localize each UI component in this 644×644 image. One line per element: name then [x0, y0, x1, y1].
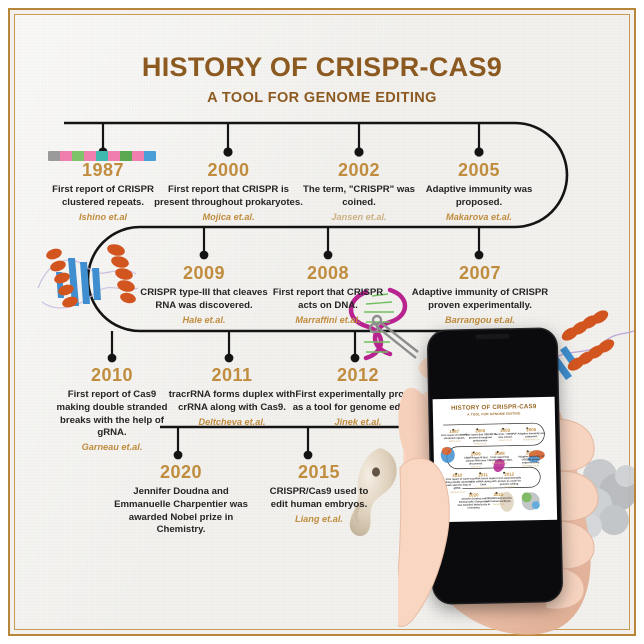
- event-year: 2000: [151, 160, 306, 181]
- event-citation: Marraffini et.al.: [264, 315, 392, 325]
- event-year: 2015: [264, 462, 374, 483]
- timeline-event-2002: 2002 The term, "CRISPR" was coined. Jans…: [303, 160, 415, 222]
- timeline-event-2020: 2020 Jennifer Doudna and Emmanuelle Char…: [106, 462, 256, 537]
- event-citation: Liang et.al.: [264, 514, 374, 524]
- event-citation: Garneau et.al.: [54, 442, 170, 452]
- event-description: CRISPR type-III that cleaves RNA was dis…: [134, 287, 274, 313]
- event-year: 2005: [423, 160, 535, 181]
- event-year: 2010: [54, 365, 170, 386]
- hand-holding-phone: HISTORY OF CRISPR-CAS9 A TOOL FOR GENOME…: [398, 300, 644, 644]
- event-description: tracrRNA forms duplex with crRNA along w…: [168, 389, 296, 415]
- timeline-event-2000: 2000 First report that CRISPR is present…: [151, 160, 306, 222]
- event-year: 2011: [168, 365, 296, 386]
- mini-event-cite: Jansen et.al.: [491, 439, 519, 443]
- event-citation: Jansen et.al.: [303, 212, 415, 222]
- event-citation: Hale et.al.: [134, 315, 274, 325]
- event-year: 2009: [134, 263, 274, 284]
- event-description: First report that CRISPR is present thro…: [151, 184, 306, 210]
- event-year: 2020: [106, 462, 256, 483]
- event-year: 2007: [409, 263, 551, 284]
- event-description: CRISPR/Cas9 used to edit human embryos.: [264, 486, 374, 512]
- event-description: First report of Cas9 making double stran…: [54, 389, 170, 440]
- mini-event-cite: Makarova et.al.: [516, 438, 546, 442]
- event-citation: Deltcheva et.al.: [168, 417, 296, 427]
- event-citation: Mojica et.al.: [151, 212, 306, 222]
- timeline-event-2005: 2005 Adaptive immunity was proposed. Mak…: [423, 160, 535, 222]
- event-description: The term, "CRISPR" was coined.: [303, 184, 415, 210]
- thumb-front: [398, 450, 518, 644]
- timeline-event-2008: 2008 First report that CRISPR acts on DN…: [264, 263, 392, 325]
- timeline-event-1987: 1987 First report of CRISPR clustered re…: [43, 160, 163, 222]
- event-description: First report that CRISPR acts on DNA.: [264, 287, 392, 313]
- event-description: Adaptive immunity was proposed.: [423, 184, 535, 210]
- phone-notch: [475, 334, 509, 340]
- timeline-event-2009: 2009 CRISPR type-III that cleaves RNA wa…: [134, 263, 274, 325]
- timeline-event-2015: 2015 CRISPR/Cas9 used to edit human embr…: [264, 462, 374, 524]
- timeline-event-2011: 2011 tracrRNA forms duplex with crRNA al…: [168, 365, 296, 427]
- event-year: 2008: [264, 263, 392, 284]
- event-year: 2002: [303, 160, 415, 181]
- event-citation: Makarova et.al.: [423, 212, 535, 222]
- event-description: First report of CRISPR clustered repeats…: [43, 184, 163, 210]
- event-description: Jennifer Doudna and Emmanuelle Charpenti…: [106, 486, 256, 537]
- event-year: 1987: [43, 160, 163, 181]
- event-citation: Ishino et.al: [43, 212, 163, 222]
- timeline-event-2010: 2010 First report of Cas9 making double …: [54, 365, 170, 452]
